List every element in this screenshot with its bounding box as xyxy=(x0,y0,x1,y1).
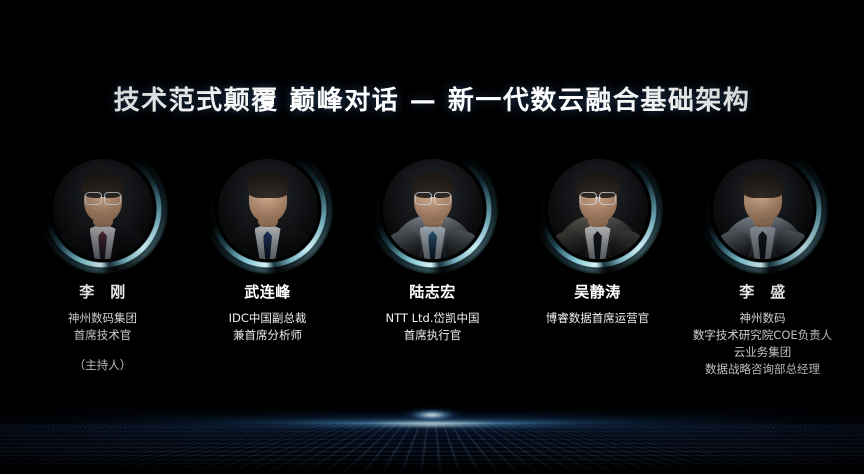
presentation-slide: 技术范式颠覆 巅峰对话 — 新一代数云融合基础架构 李 刚神州数码集团首席技术官… xyxy=(0,0,864,474)
speaker-name: 李 刚 xyxy=(20,281,185,302)
speaker-affiliation: IDC中国副总裁兼首席分析师 xyxy=(185,310,350,344)
speaker-card: 吴静涛博睿数据首席运营官 xyxy=(515,150,680,327)
speaker-card: 李 盛神州数码数字技术研究院COE负责人云业务集团数据战略咨询部总经理 xyxy=(680,150,845,378)
speaker-affiliation-line: 云业务集团 xyxy=(680,344,845,361)
speaker-affiliation-line: 首席技术官 xyxy=(20,327,185,344)
speaker-affiliation-line: 数字技术研究院COE负责人 xyxy=(680,327,845,344)
avatar-ring-arc xyxy=(374,150,492,268)
avatar-ring-arc xyxy=(539,150,657,268)
floor-light-speckles xyxy=(0,424,864,474)
speaker-card: 武连峰IDC中国副总裁兼首席分析师 xyxy=(185,150,350,344)
speaker-affiliation: 神州数码集团首席技术官（主持人） xyxy=(20,310,185,374)
speaker-card: 陆志宏NTT Ltd.岱凯中国首席执行官 xyxy=(350,150,515,344)
speaker-affiliation-line: 兼首席分析师 xyxy=(185,327,350,344)
avatar xyxy=(374,150,492,268)
speaker-affiliation: 博睿数据首席运营官 xyxy=(515,310,680,327)
speaker-name: 武连峰 xyxy=(185,281,350,302)
avatar xyxy=(209,150,327,268)
avatar-ring-arc xyxy=(44,150,162,268)
speaker-name: 李 盛 xyxy=(680,281,845,302)
speaker-affiliation-line: 神州数码集团 xyxy=(20,310,185,327)
speaker-affiliation-line: IDC中国副总裁 xyxy=(185,310,350,327)
speaker-affiliation-line: 首席执行官 xyxy=(350,327,515,344)
speaker-affiliation-line: 神州数码 xyxy=(680,310,845,327)
avatar-ring-arc xyxy=(209,150,327,268)
slide-title: 技术范式颠覆 巅峰对话 — 新一代数云融合基础架构 xyxy=(114,80,751,117)
speaker-name: 陆志宏 xyxy=(350,281,515,302)
avatar-ring-arc xyxy=(704,150,822,268)
speaker-role-note: （主持人） xyxy=(20,357,185,374)
speaker-affiliation: NTT Ltd.岱凯中国首席执行官 xyxy=(350,310,515,344)
horizon-flare-core xyxy=(400,405,464,425)
speaker-name: 吴静涛 xyxy=(515,281,680,302)
perspective-data-floor xyxy=(0,424,864,474)
speaker-affiliation-line: 数据战略咨询部总经理 xyxy=(680,361,845,378)
speaker-affiliation: 神州数码数字技术研究院COE负责人云业务集团数据战略咨询部总经理 xyxy=(680,310,845,378)
avatar xyxy=(44,150,162,268)
slide-title-bar: 技术范式颠覆 巅峰对话 — 新一代数云融合基础架构 xyxy=(0,80,864,117)
speaker-affiliation-line: NTT Ltd.岱凯中国 xyxy=(350,310,515,327)
speaker-affiliation-line: 博睿数据首席运营官 xyxy=(515,310,680,327)
avatar xyxy=(539,150,657,268)
avatar xyxy=(704,150,822,268)
speaker-card: 李 刚神州数码集团首席技术官（主持人） xyxy=(20,150,185,374)
